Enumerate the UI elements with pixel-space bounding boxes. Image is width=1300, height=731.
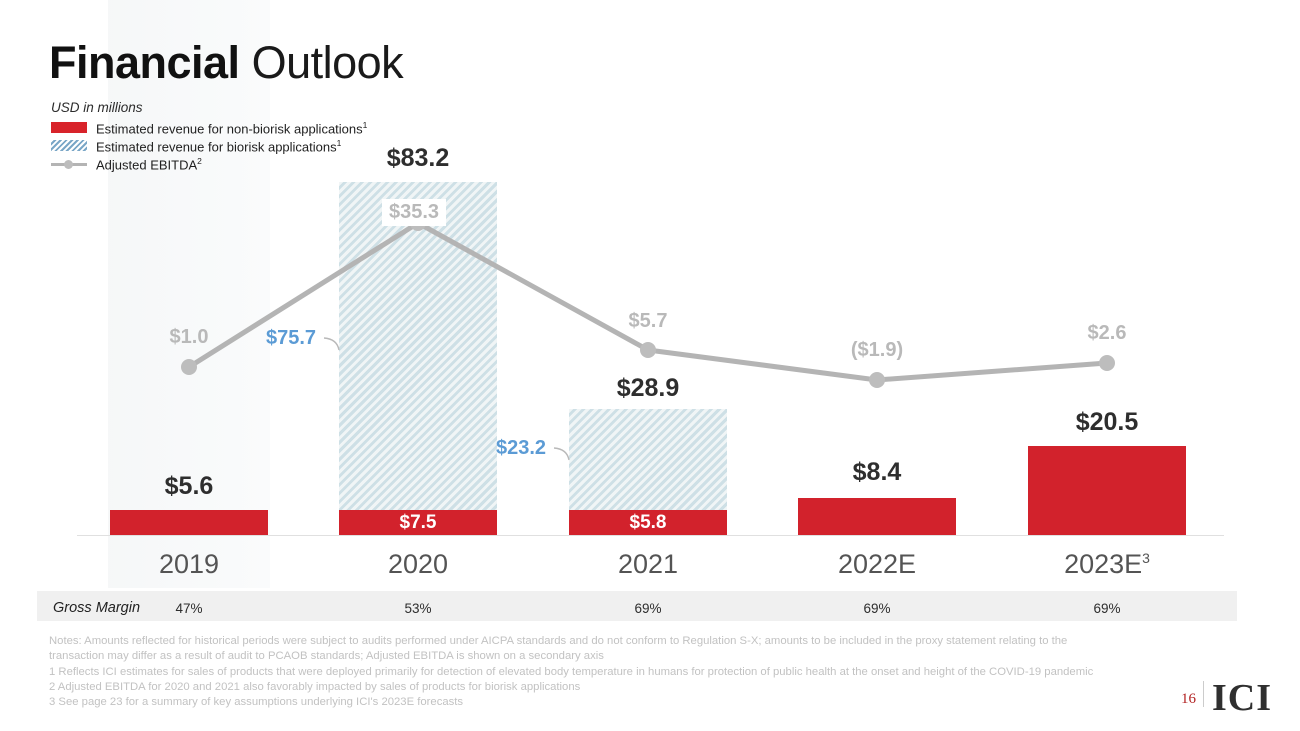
x-label-2021: 2021 [569,549,727,580]
footnote-line-1: transaction may differ as a result of au… [49,649,1179,664]
ebitda-label-2021: $5.7 [588,310,708,333]
footnote-line-0: Notes: Amounts reflected for historical … [49,634,1179,649]
footnote-line-3: 2 Adjusted EBITDA for 2020 and 2021 also… [49,680,1179,695]
gross-margin-2022e: 69% [798,601,956,616]
x-label-2023e: 2023E3 [1028,549,1186,580]
x-label-2019: 2019 [109,549,269,580]
callout-biorisk-2021: $23.2 [496,437,546,460]
callout-biorisk-2020: $75.7 [266,327,316,350]
x-label-2022e: 2022E [798,549,956,580]
gross-margin-2020: 53% [339,601,497,616]
gross-margin-2019: 47% [110,601,268,616]
ebitda-label-2020: $35.3 [382,199,446,226]
logo-divider [1203,681,1204,707]
gross-margin-2021: 69% [569,601,727,616]
footnote-line-4: 3 See page 23 for a summary of key assum… [49,695,1179,710]
ebitda-label-2023e: $2.6 [1047,322,1167,345]
callout-leader-lines [0,0,1300,600]
footnote-line-2: 1 Reflects ICI estimates for sales of pr… [49,665,1179,680]
x-axis-labels: 2019 2020 2021 2022E 2023E3 [0,549,1300,589]
ebitda-label-2019: $1.0 [129,326,249,349]
x-label-2020: 2020 [339,549,497,580]
footnotes: Notes: Amounts reflected for historical … [49,634,1179,710]
company-logo: ICI [1212,676,1272,720]
x-axis-line [77,535,1224,536]
ebitda-label-2022e: ($1.9) [812,339,942,362]
page-number: 16 [1181,691,1196,708]
gross-margin-2023e: 69% [1028,601,1186,616]
slide-root: Financial Outlook USD in millions Estima… [0,0,1300,731]
chart-plot-area: $5.6 $83.2 $7.5 $28.9 $5.8 $8.4 $20.5 [0,0,1300,600]
